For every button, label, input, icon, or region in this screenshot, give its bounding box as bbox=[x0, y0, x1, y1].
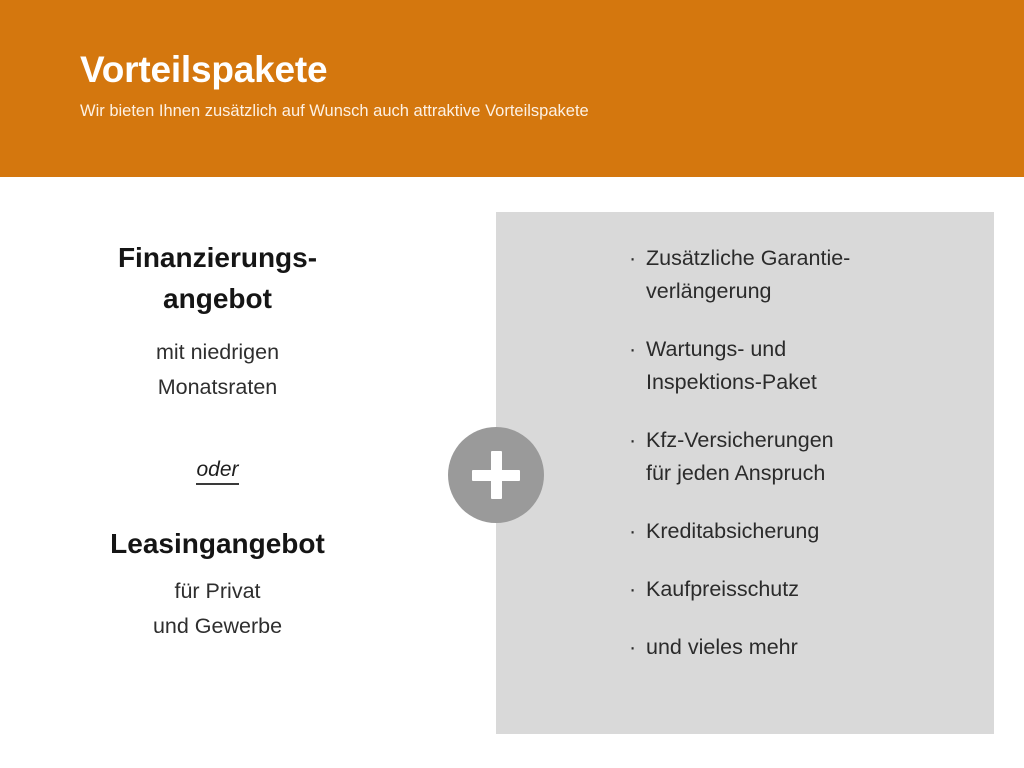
bullet-icon: · bbox=[629, 333, 646, 366]
benefit-list-item-text: Wartungs- undInspektions-Paket bbox=[646, 333, 994, 399]
benefit-list-item-line: Kfz-Versicherungen bbox=[646, 424, 994, 457]
plus-icon bbox=[448, 427, 544, 523]
financing-offer-subtitle-line-1: mit niedrigen bbox=[60, 335, 375, 370]
leasing-offer-subtitle: für Privat und Gewerbe bbox=[60, 574, 375, 644]
benefit-list-item: ·Kaufpreisschutz bbox=[629, 573, 994, 606]
financing-offer-title-line-2: angebot bbox=[60, 278, 375, 319]
page-subtitle: Wir bieten Ihnen zusätzlich auf Wunsch a… bbox=[80, 100, 589, 122]
leasing-offer-subtitle-line-2: und Gewerbe bbox=[60, 609, 375, 644]
content-area: Finanzierungs- angebot mit niedrigen Mon… bbox=[0, 177, 1024, 768]
benefit-list-item-text: und vieles mehr bbox=[646, 631, 994, 664]
benefit-list-item-line: Zusätzliche Garantie- bbox=[646, 242, 994, 275]
financing-offer-subtitle: mit niedrigen Monatsraten bbox=[60, 335, 375, 405]
financing-offer-title-line-1: Finanzierungs- bbox=[60, 237, 375, 278]
benefit-list-item: ·Kreditabsicherung bbox=[629, 515, 994, 548]
benefit-list-item: ·Zusätzliche Garantie-verlängerung bbox=[629, 242, 994, 308]
benefit-list-item-text: Kaufpreisschutz bbox=[646, 573, 994, 606]
page-header: Vorteilspakete Wir bieten Ihnen zusätzli… bbox=[0, 0, 1024, 177]
offers-column: Finanzierungs- angebot mit niedrigen Mon… bbox=[60, 237, 375, 644]
bullet-icon: · bbox=[629, 631, 646, 664]
benefit-list-item-line: und vieles mehr bbox=[646, 631, 994, 664]
bullet-icon: · bbox=[629, 515, 646, 548]
benefit-list-item-text: Kfz-Versicherungenfür jeden Anspruch bbox=[646, 424, 994, 490]
financing-offer-block: Finanzierungs- angebot mit niedrigen Mon… bbox=[60, 237, 375, 405]
benefit-list-item-text: Zusätzliche Garantie-verlängerung bbox=[646, 242, 994, 308]
benefits-list: ·Zusätzliche Garantie-verlängerung·Wartu… bbox=[496, 212, 994, 664]
benefit-list-item-line: Kreditabsicherung bbox=[646, 515, 994, 548]
benefit-list-item-line: für jeden Anspruch bbox=[646, 457, 994, 490]
bullet-icon: · bbox=[629, 424, 646, 457]
leasing-offer-subtitle-line-1: für Privat bbox=[60, 574, 375, 609]
offers-divider-label: oder bbox=[196, 458, 238, 485]
page-title: Vorteilspakete bbox=[80, 48, 589, 92]
financing-offer-title: Finanzierungs- angebot bbox=[60, 237, 375, 319]
bullet-icon: · bbox=[629, 573, 646, 606]
leasing-offer-block: Leasingangebot für Privat und Gewerbe bbox=[60, 527, 375, 644]
benefit-list-item: ·und vieles mehr bbox=[629, 631, 994, 664]
benefit-list-item-line: Kaufpreisschutz bbox=[646, 573, 994, 606]
benefit-list-item: ·Kfz-Versicherungenfür jeden Anspruch bbox=[629, 424, 994, 490]
benefit-list-item-line: Wartungs- und bbox=[646, 333, 994, 366]
benefit-list-item: ·Wartungs- undInspektions-Paket bbox=[629, 333, 994, 399]
benefits-panel: ·Zusätzliche Garantie-verlängerung·Wartu… bbox=[496, 212, 994, 734]
header-text-group: Vorteilspakete Wir bieten Ihnen zusätzli… bbox=[80, 48, 589, 122]
financing-offer-subtitle-line-2: Monatsraten bbox=[60, 370, 375, 405]
leasing-offer-title-line-1: Leasingangebot bbox=[60, 527, 375, 561]
leasing-offer-title: Leasingangebot bbox=[60, 527, 375, 561]
bullet-icon: · bbox=[629, 242, 646, 275]
benefit-list-item-line: verlängerung bbox=[646, 275, 994, 308]
offers-divider: oder bbox=[60, 457, 375, 483]
plus-icon-vertical-bar bbox=[491, 451, 502, 499]
benefit-list-item-text: Kreditabsicherung bbox=[646, 515, 994, 548]
benefit-list-item-line: Inspektions-Paket bbox=[646, 366, 994, 399]
